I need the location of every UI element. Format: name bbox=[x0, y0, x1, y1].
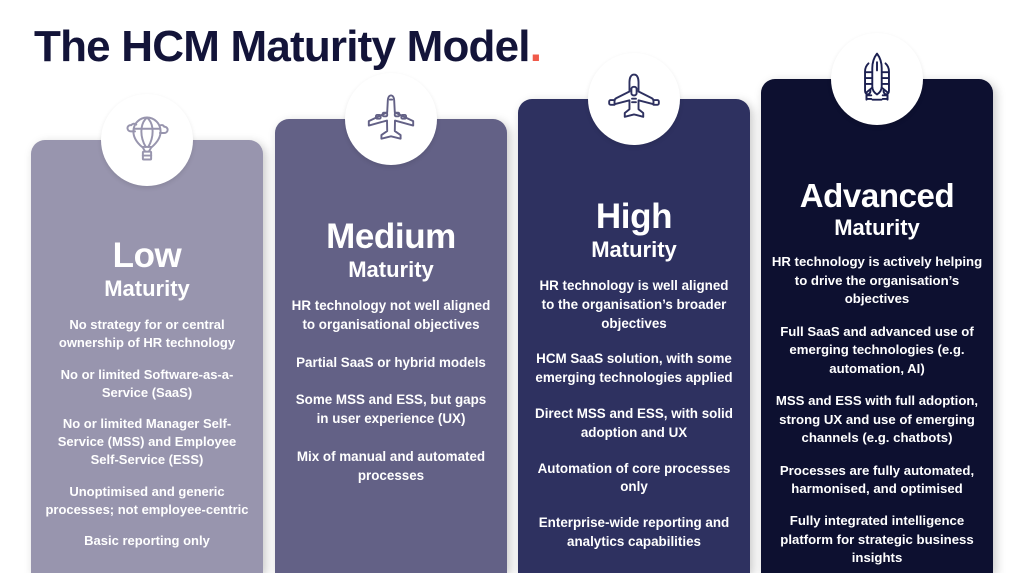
list-item: HR technology is actively helping to dri… bbox=[770, 253, 984, 308]
list-item: No or limited Software-as-a-Service (Saa… bbox=[45, 366, 249, 402]
card-heading-low: Low Maturity bbox=[31, 238, 263, 302]
list-item: HCM SaaS solution, with some emerging te… bbox=[532, 350, 736, 388]
page-title-accent-dot: . bbox=[530, 22, 541, 71]
card-points-low: No strategy for or central ownership of … bbox=[31, 316, 263, 550]
card-points-medium: HR technology not well aligned to organi… bbox=[275, 297, 507, 485]
card-level-advanced: Advanced bbox=[771, 179, 983, 213]
list-item: No strategy for or central ownership of … bbox=[45, 316, 249, 352]
list-item: No or limited Manager Self-Service (MSS)… bbox=[45, 415, 249, 470]
card-level-high: High bbox=[528, 199, 740, 235]
card-maturity-label-advanced: Maturity bbox=[771, 214, 983, 242]
list-item: Unoptimised and generic processes; not e… bbox=[45, 483, 249, 519]
icon-badge-medium bbox=[345, 73, 437, 165]
list-item: Enterprise-wide reporting and analytics … bbox=[532, 514, 736, 552]
card-heading-high: High Maturity bbox=[518, 199, 750, 263]
card-maturity-label-high: Maturity bbox=[528, 236, 740, 264]
maturity-card-low[interactable]: Low Maturity No strategy for or central … bbox=[31, 140, 263, 573]
fighter-jet-icon bbox=[605, 70, 663, 128]
page-title: The HCM Maturity Model. bbox=[34, 22, 541, 72]
list-item: Partial SaaS or hybrid models bbox=[289, 354, 493, 373]
list-item: HR technology is well aligned to the org… bbox=[532, 277, 736, 333]
list-item: Full SaaS and advanced use of emerging t… bbox=[770, 323, 984, 378]
list-item: Direct MSS and ESS, with solid adoption … bbox=[532, 405, 736, 443]
hot-air-balloon-icon bbox=[117, 110, 177, 170]
card-level-medium: Medium bbox=[285, 219, 497, 255]
card-heading-medium: Medium Maturity bbox=[275, 219, 507, 283]
list-item: Basic reporting only bbox=[45, 532, 249, 550]
list-item: Fully integrated intelligence platform f… bbox=[770, 512, 984, 567]
maturity-card-advanced[interactable]: Advanced Maturity HR technology is activ… bbox=[761, 79, 993, 573]
icon-badge-low bbox=[101, 94, 193, 186]
card-heading-advanced: Advanced Maturity bbox=[761, 179, 993, 241]
icon-badge-advanced bbox=[831, 33, 923, 125]
card-points-advanced: HR technology is actively helping to dri… bbox=[761, 253, 993, 568]
list-item: Automation of core processes only bbox=[532, 460, 736, 498]
maturity-card-medium[interactable]: Medium Maturity HR technology not well a… bbox=[275, 119, 507, 573]
list-item: Some MSS and ESS, but gaps in user exper… bbox=[289, 391, 493, 429]
list-item: HR technology not well aligned to organi… bbox=[289, 297, 493, 335]
list-item: Mix of manual and automated processes bbox=[289, 448, 493, 486]
icon-badge-high bbox=[588, 53, 680, 145]
space-shuttle-icon bbox=[848, 50, 906, 108]
card-maturity-label-medium: Maturity bbox=[285, 256, 497, 284]
card-level-low: Low bbox=[41, 238, 253, 274]
list-item: Processes are fully automated, harmonise… bbox=[770, 462, 984, 499]
maturity-card-high[interactable]: High Maturity HR technology is well alig… bbox=[518, 99, 750, 573]
airplane-icon bbox=[362, 90, 420, 148]
list-item: MSS and ESS with full adoption, strong U… bbox=[770, 392, 984, 447]
card-maturity-label-low: Maturity bbox=[41, 275, 253, 303]
infographic-canvas: The HCM Maturity Model. Low Matu bbox=[0, 0, 1024, 573]
page-title-text: The HCM Maturity Model bbox=[34, 22, 530, 71]
card-points-high: HR technology is well aligned to the org… bbox=[518, 277, 750, 551]
